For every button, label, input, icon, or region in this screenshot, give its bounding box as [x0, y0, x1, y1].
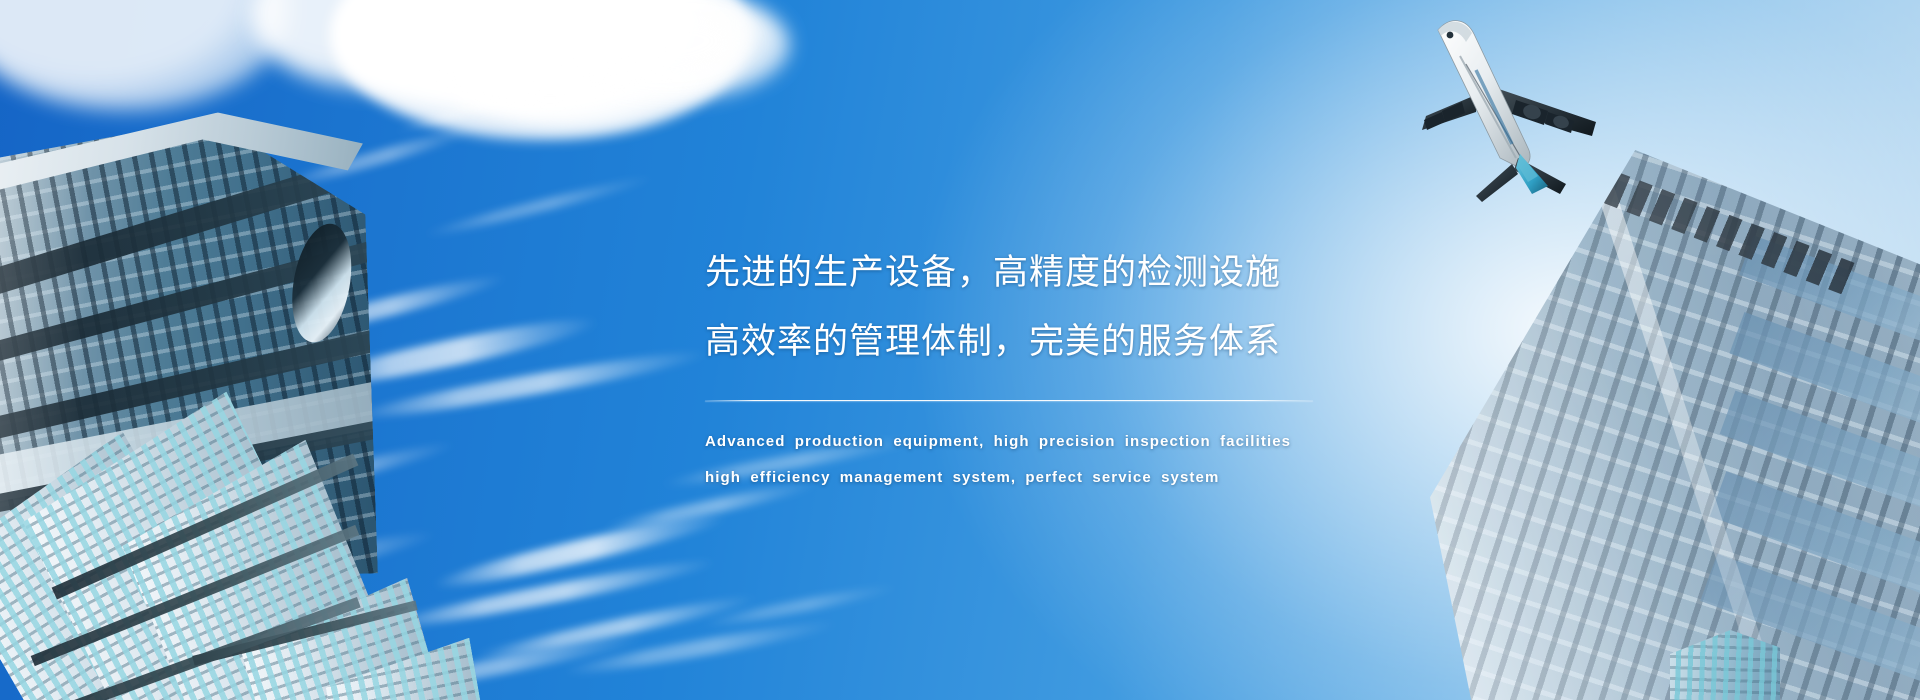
headline-line-2: 高效率的管理体制，完美的服务体系 [705, 324, 1465, 359]
subtitle-line-2: high efficiency management system, perfe… [705, 469, 1465, 486]
airplane-icon [1420, 8, 1650, 203]
cloud-icon [600, 10, 750, 80]
subtitle-line-1: Advanced production equipment, high prec… [705, 433, 1465, 450]
skyscraper-icon [1430, 150, 1920, 700]
headline-line-1: 先进的生产设备，高精度的检测设施 [705, 255, 1465, 290]
hero-banner: 先进的生产设备，高精度的检测设施 高效率的管理体制，完美的服务体系 Advanc… [0, 0, 1920, 700]
banner-text-block: 先进的生产设备，高精度的检测设施 高效率的管理体制，完美的服务体系 Advanc… [705, 255, 1465, 486]
cloud-icon [0, 0, 290, 110]
cloud-icon [422, 171, 658, 241]
text-divider [705, 400, 1313, 401]
right-skyscraper [1410, 150, 1920, 700]
